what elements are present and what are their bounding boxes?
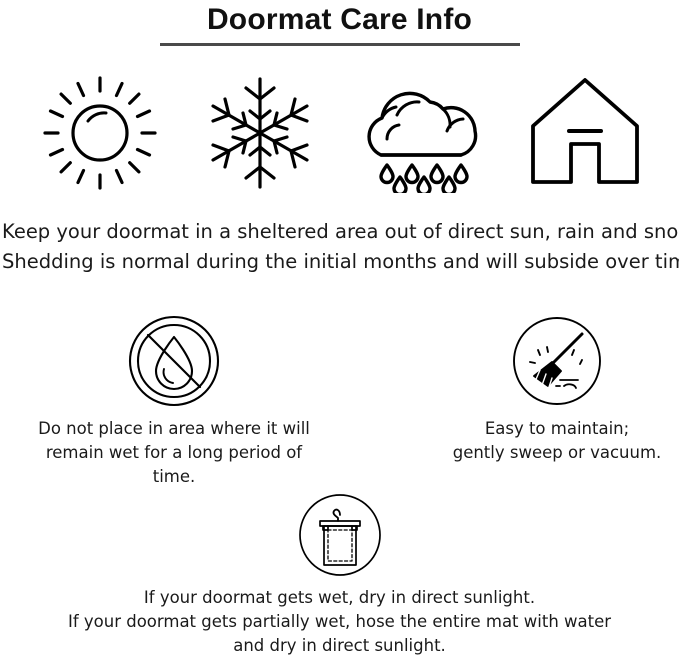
tip-1-line-2: remain wet for a long period of time. bbox=[34, 441, 314, 489]
hanging-mat-icon bbox=[0, 492, 679, 578]
no-water-icon bbox=[34, 314, 314, 408]
drying-line-2: If your doormat gets partially wet, hose… bbox=[0, 610, 679, 634]
intro-paragraph: Keep your doormat in a sheltered area ou… bbox=[2, 217, 679, 277]
tip-1-line-1: Do not place in area where it will bbox=[34, 417, 314, 441]
snowflake-icon bbox=[190, 68, 330, 198]
drying-instructions-block: If your doormat gets wet, dry in direct … bbox=[0, 492, 679, 658]
title-block: Doormat Care Info bbox=[0, 0, 679, 46]
page-title: Doormat Care Info bbox=[0, 0, 679, 38]
drying-line-1: If your doormat gets wet, dry in direct … bbox=[0, 586, 679, 610]
tip-no-standing-water: Do not place in area where it will remai… bbox=[34, 314, 314, 489]
rain-cloud-icon bbox=[352, 68, 492, 198]
broom-sweep-icon bbox=[417, 314, 679, 408]
tip-2-line-2: gently sweep or vacuum. bbox=[417, 441, 679, 465]
house-icon bbox=[515, 68, 655, 198]
sun-icon bbox=[30, 68, 170, 198]
drying-line-3: and dry in direct sunlight. bbox=[0, 634, 679, 658]
tip-easy-maintain: Easy to maintain; gently sweep or vacuum… bbox=[417, 314, 679, 465]
weather-icon-row bbox=[0, 68, 679, 198]
title-underline-rule bbox=[160, 43, 520, 46]
intro-line-2: Shedding is normal during the initial mo… bbox=[2, 247, 679, 277]
tip-2-line-1: Easy to maintain; bbox=[417, 417, 679, 441]
tip-easy-maintain-caption: Easy to maintain; gently sweep or vacuum… bbox=[417, 417, 679, 465]
tip-no-standing-water-caption: Do not place in area where it will remai… bbox=[34, 417, 314, 489]
drying-instructions-caption: If your doormat gets wet, dry in direct … bbox=[0, 586, 679, 658]
intro-line-1: Keep your doormat in a sheltered area ou… bbox=[2, 217, 679, 247]
